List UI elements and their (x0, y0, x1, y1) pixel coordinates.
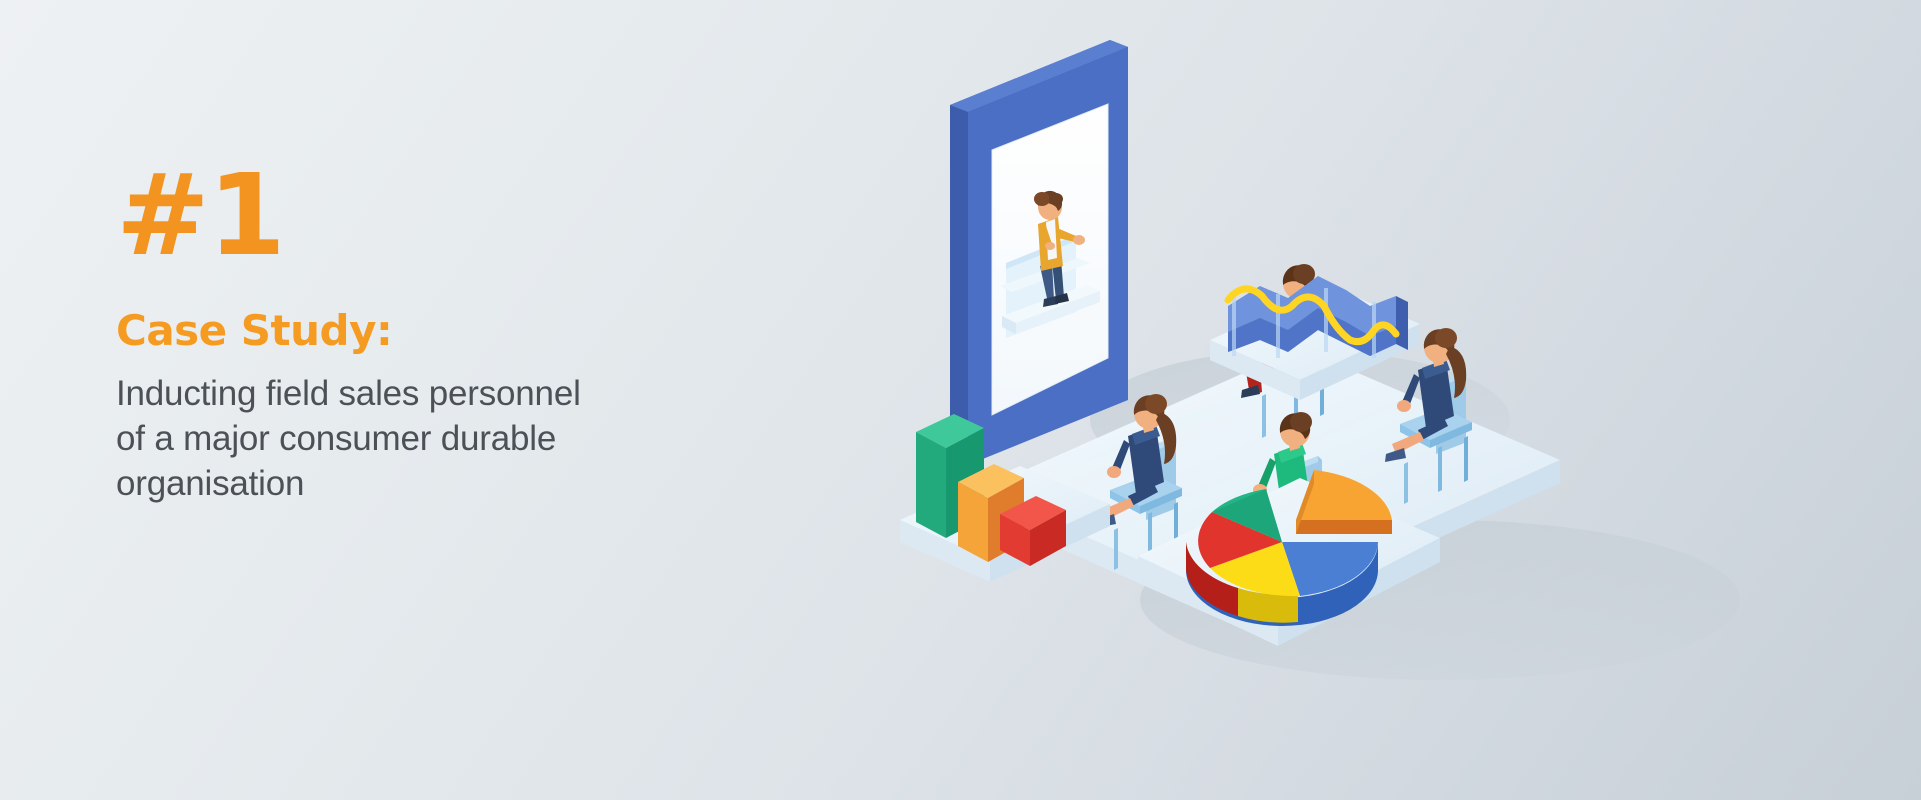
rank-number: #1 (116, 160, 816, 272)
case-study-description: Inducting field sales personnel of a maj… (116, 372, 816, 506)
description-line-3: organisation (116, 462, 816, 507)
slide-text-panel: #1 Case Study: Inducting field sales per… (116, 160, 816, 507)
description-line-1: Inducting field sales personnel (116, 372, 816, 417)
description-line-2: of a major consumer durable (116, 417, 816, 462)
isometric-training-illustration (880, 0, 1921, 800)
case-study-heading: Case Study: (116, 308, 816, 354)
tablet-screen (950, 40, 1128, 465)
